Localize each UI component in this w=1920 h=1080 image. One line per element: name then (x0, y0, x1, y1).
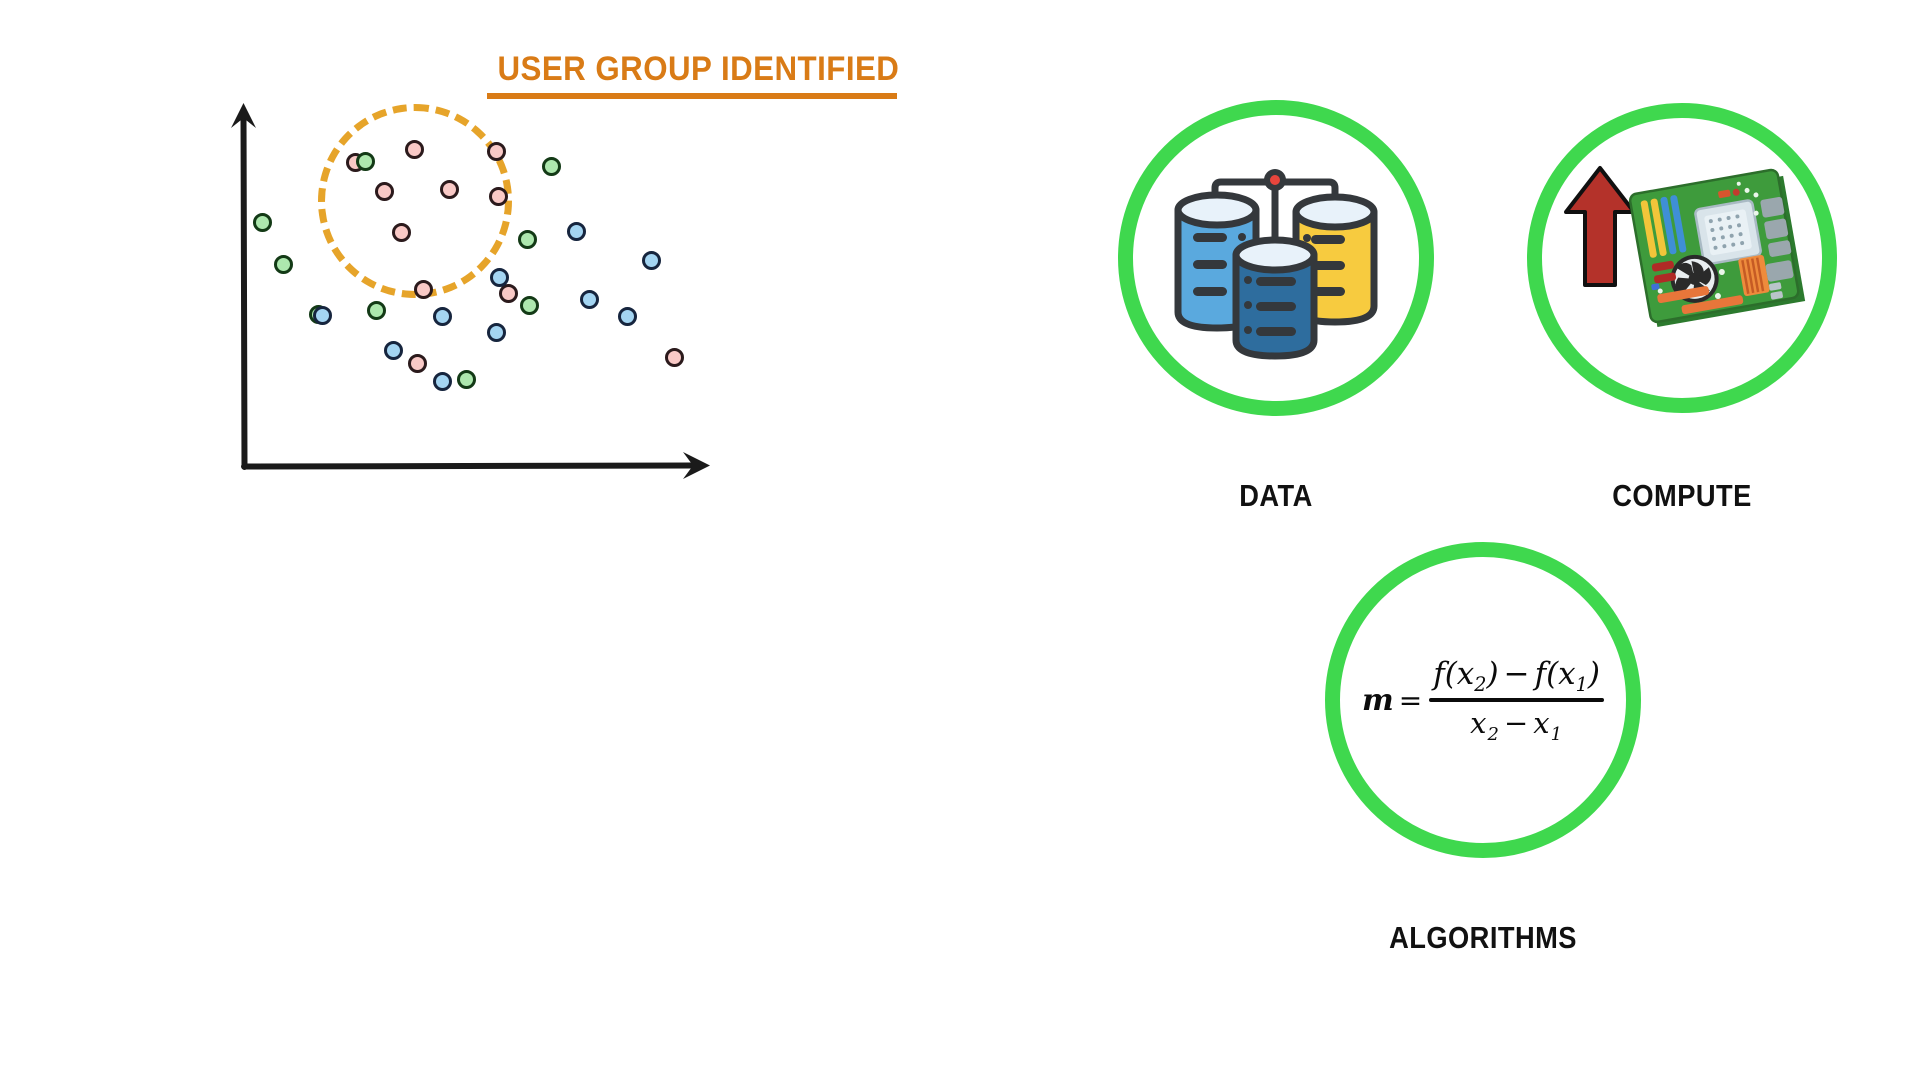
formula-fraction: f(x2)−f(x1) x2−x1 (1429, 656, 1604, 745)
formula-num-minus: − (1499, 656, 1535, 692)
scatter-point (618, 307, 637, 326)
motherboard-arrow-icon (1550, 150, 1810, 350)
scatter-point (518, 230, 537, 249)
scatter-point (580, 290, 599, 309)
formula-num-fx1: f(x (1535, 656, 1576, 692)
scatter-point (490, 268, 509, 287)
formula-numerator: f(x2)−f(x1) (1429, 656, 1604, 698)
scatter-point (384, 341, 403, 360)
formula-num-sub1: 1 (1576, 673, 1588, 696)
scatter-point (408, 354, 427, 373)
scatter-point (440, 180, 459, 199)
scatter-point (433, 372, 452, 391)
scatter-point (567, 222, 586, 241)
formula-lhs: m (1362, 683, 1394, 718)
data-label-text: DATA (1239, 478, 1312, 513)
scatter-point (274, 255, 293, 274)
formula-equals: = (1399, 684, 1422, 717)
formula-denominator: x2−x1 (1470, 702, 1563, 745)
scatter-point (356, 152, 375, 171)
user-group-cluster-circle (318, 104, 512, 298)
algorithms-label: ALGORITHMS (1342, 920, 1624, 956)
formula-num-sub2: 2 (1474, 673, 1486, 696)
scatter-point (392, 223, 411, 242)
scatter-point (433, 307, 452, 326)
formula-num-fx2: f(x (1433, 656, 1474, 692)
scatter-point (405, 140, 424, 159)
scatter-point (489, 187, 508, 206)
scatter-point (367, 301, 386, 320)
scatter-point (253, 213, 272, 232)
formula-den-x1: x (1533, 706, 1550, 740)
compute-label-text: COMPUTE (1612, 478, 1751, 513)
scatter-point (313, 306, 332, 325)
formula-den-x2: x (1470, 706, 1487, 740)
scatter-point (457, 370, 476, 389)
database-stack-icon (1160, 150, 1390, 360)
scatter-point (642, 251, 661, 270)
scatter-point (520, 296, 539, 315)
formula-num-close2: ) (1487, 656, 1499, 692)
data-label: DATA (1135, 478, 1417, 514)
algorithms-label-text: ALGORITHMS (1389, 920, 1577, 955)
formula-den-sub1: 1 (1551, 723, 1563, 744)
scatter-point (499, 284, 518, 303)
scatter-point (487, 323, 506, 342)
formula-num-close1: ) (1588, 656, 1600, 692)
scatter-point (487, 142, 506, 161)
formula-den-minus: − (1500, 706, 1533, 740)
scatter-point (542, 157, 561, 176)
formula-den-sub2: 2 (1488, 723, 1500, 744)
slope-formula: m = f(x2)−f(x1) x2−x1 (1355, 650, 1611, 750)
scatter-point (665, 348, 684, 367)
poster-canvas: USER GROUP IDENTIFIED (0, 0, 1920, 1080)
x-axis-line (244, 466, 695, 467)
y-axis-line (244, 115, 245, 467)
scatter-point (375, 182, 394, 201)
scatter-point (414, 280, 433, 299)
scatter-plot (150, 70, 770, 500)
compute-label: COMPUTE (1541, 478, 1823, 514)
